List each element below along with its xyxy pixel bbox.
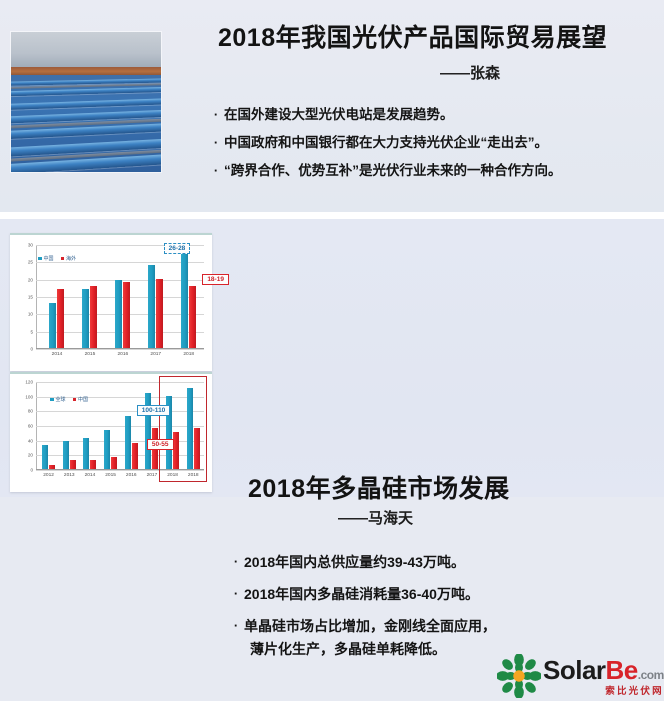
chart-card-polysilicon-capacity[interactable]: 0 20 40 60 80 100 120 2012 2013 [10, 372, 212, 492]
photo-sky [11, 32, 161, 71]
bullet-text: 2018年国内多晶硅消耗量36-40万吨。 [244, 585, 658, 604]
annotation-china-2018: 26-28 [164, 243, 191, 254]
logo-wordmark: SolarBe.com 索比光伏网 [543, 655, 664, 697]
bar-overseas [57, 289, 64, 348]
solarbe-logo[interactable]: SolarBe.com 索比光伏网 [497, 651, 657, 701]
chart-bottom-legend: 全球 中国 [50, 396, 88, 403]
logo-domain-suffix: .com [638, 668, 664, 682]
bar-group: 2018 [183, 381, 203, 469]
y-tick-label: 60 [28, 424, 33, 429]
list-item: · 在国外建设大型光伏电站是发展趋势。 [208, 106, 658, 125]
legend-swatch-icon [38, 257, 42, 261]
x-tick-label: 2015 [105, 473, 116, 478]
solar-farm-photo [11, 32, 161, 172]
x-tick-label: 2014 [85, 473, 96, 478]
list-item: · 2018年国内总供应量约39-43万吨。 [228, 553, 658, 572]
flower-logo-icon [497, 654, 541, 698]
y-tick-label: 120 [25, 380, 33, 385]
bar-group: 2018 [163, 381, 183, 469]
x-tick-label: 2018 [183, 352, 194, 357]
bar-global [63, 441, 69, 469]
legend-item-china: 中国 [73, 396, 89, 403]
bar-china [194, 428, 200, 469]
bar-global [125, 416, 131, 470]
y-tick-label: 20 [28, 453, 33, 458]
bullet-dot-icon: · [208, 106, 224, 125]
bar-overseas [189, 286, 196, 348]
bar-group: 2018 [173, 244, 205, 348]
bar-china [111, 457, 117, 469]
bar-group: 2015 [101, 381, 121, 469]
bar-china [148, 265, 155, 348]
y-tick-label: 20 [28, 277, 33, 282]
list-item: · “跨界合作、优势互补”是光伏行业未来的一种合作方向。 [208, 162, 658, 181]
bullet-dot-icon: · [228, 617, 244, 636]
y-tick-label: 30 [28, 243, 33, 248]
legend-swatch-icon [73, 398, 77, 402]
y-tick-label: 80 [28, 409, 33, 414]
bar-china [132, 443, 138, 469]
x-tick-label: 2018 [188, 473, 199, 478]
bullet-text: 在国外建设大型光伏电站是发展趋势。 [224, 106, 658, 124]
bar-global [187, 388, 193, 469]
top-section-title: 2018年我国光伏产品国际贸易展望 [218, 18, 607, 54]
bottom-section-author: ——马海天 [338, 507, 413, 528]
bottom-section-title: 2018年多晶硅市场发展 [248, 469, 510, 505]
logo-name-be: Be [606, 655, 638, 685]
bar-global [42, 445, 48, 469]
bar-china [70, 460, 76, 469]
top-section-panel: 2018年我国光伏产品国际贸易展望 ——张森 · 在国外建设大型光伏电站是发展趋… [0, 0, 664, 212]
bar-group: 2013 [59, 381, 79, 469]
legend-label: 全球 [56, 396, 66, 403]
gridline: 0 [36, 349, 204, 350]
bar-overseas [123, 282, 130, 348]
bar-overseas [156, 279, 163, 348]
bar-china [49, 465, 55, 469]
bullet-text-line1: 单晶硅市场占比增加，金刚线全面应用， [244, 618, 496, 634]
list-item: · 中国政府和中国银行都在大力支持光伏企业“走出去”。 [208, 134, 658, 153]
bullet-dot-icon: · [208, 162, 224, 181]
list-item: · 2018年国内多晶硅消耗量36-40万吨。 [228, 585, 658, 604]
x-tick-label: 2014 [52, 352, 63, 357]
logo-name-solar: Solar [543, 655, 606, 685]
annotation-global-2018: 100-110 [137, 405, 171, 416]
chart-top-legend: 中国 海外 [38, 255, 76, 262]
legend-item-overseas: 海外 [61, 255, 77, 262]
y-tick-label: 25 [28, 260, 33, 265]
top-section-bullet-list: · 在国外建设大型光伏电站是发展趋势。 · 中国政府和中国银行都在大力支持光伏企… [208, 106, 658, 190]
bar-china [115, 280, 122, 348]
legend-item-global: 全球 [50, 396, 66, 403]
legend-swatch-icon [61, 257, 65, 261]
bar-group: 2015 [74, 244, 106, 348]
y-tick-label: 5 [30, 329, 33, 334]
x-tick-label: 2017 [150, 352, 161, 357]
bar-global [83, 438, 89, 470]
legend-swatch-icon [50, 398, 54, 402]
bar-group: 2016 [121, 381, 141, 469]
y-tick-label: 10 [28, 312, 33, 317]
legend-label: 中国 [44, 255, 54, 262]
y-tick-label: 100 [25, 394, 33, 399]
section-divider [0, 212, 664, 219]
bar-china [49, 303, 56, 348]
x-tick-label: 2018 [167, 473, 178, 478]
legend-label: 海外 [66, 255, 76, 262]
bar-global [104, 430, 110, 469]
legend-item-china: 中国 [38, 255, 54, 262]
bar-china [90, 460, 96, 469]
bullet-dot-icon: · [228, 553, 244, 572]
x-tick-label: 2012 [43, 473, 54, 478]
y-tick-label: 40 [28, 438, 33, 443]
bullet-text: 中国政府和中国银行都在大力支持光伏企业“走出去”。 [224, 134, 658, 152]
x-tick-label: 2017 [147, 473, 158, 478]
x-tick-label: 2013 [64, 473, 75, 478]
bullet-text: 2018年国内总供应量约39-43万吨。 [244, 553, 658, 572]
logo-name: SolarBe.com [543, 655, 664, 686]
bullet-dot-icon: · [228, 585, 244, 604]
bar-china [82, 289, 89, 348]
bullet-text: “跨界合作、优势互补”是光伏行业未来的一种合作方向。 [224, 162, 658, 180]
bar-china [173, 432, 179, 469]
bar-group: 2017 [140, 244, 172, 348]
bar-group: 2014 [80, 381, 100, 469]
y-tick-label: 0 [30, 468, 33, 473]
y-tick-label: 0 [30, 347, 33, 352]
y-tick-label: 15 [28, 295, 33, 300]
bullet-dot-icon: · [208, 134, 224, 153]
bar-overseas [90, 286, 97, 348]
x-tick-label: 2015 [85, 352, 96, 357]
bar-china [181, 254, 188, 348]
annotation-china-2018: 50-55 [147, 439, 174, 450]
x-tick-label: 2016 [118, 352, 129, 357]
legend-label: 中国 [78, 396, 88, 403]
slide-canvas: 2018年我国光伏产品国际贸易展望 ——张森 · 在国外建设大型光伏电站是发展趋… [0, 0, 664, 497]
top-section-author: ——张森 [440, 62, 500, 83]
bar-group: 2012 [39, 381, 59, 469]
annotation-overseas-2018: 18-19 [202, 274, 229, 285]
bar-group: 2016 [107, 244, 139, 348]
x-tick-label: 2016 [126, 473, 137, 478]
bar-group: 2017 [142, 381, 162, 469]
chart-card-polysilicon-demand[interactable]: 0 5 10 15 20 25 30 2014 2015 2016 [10, 233, 212, 371]
